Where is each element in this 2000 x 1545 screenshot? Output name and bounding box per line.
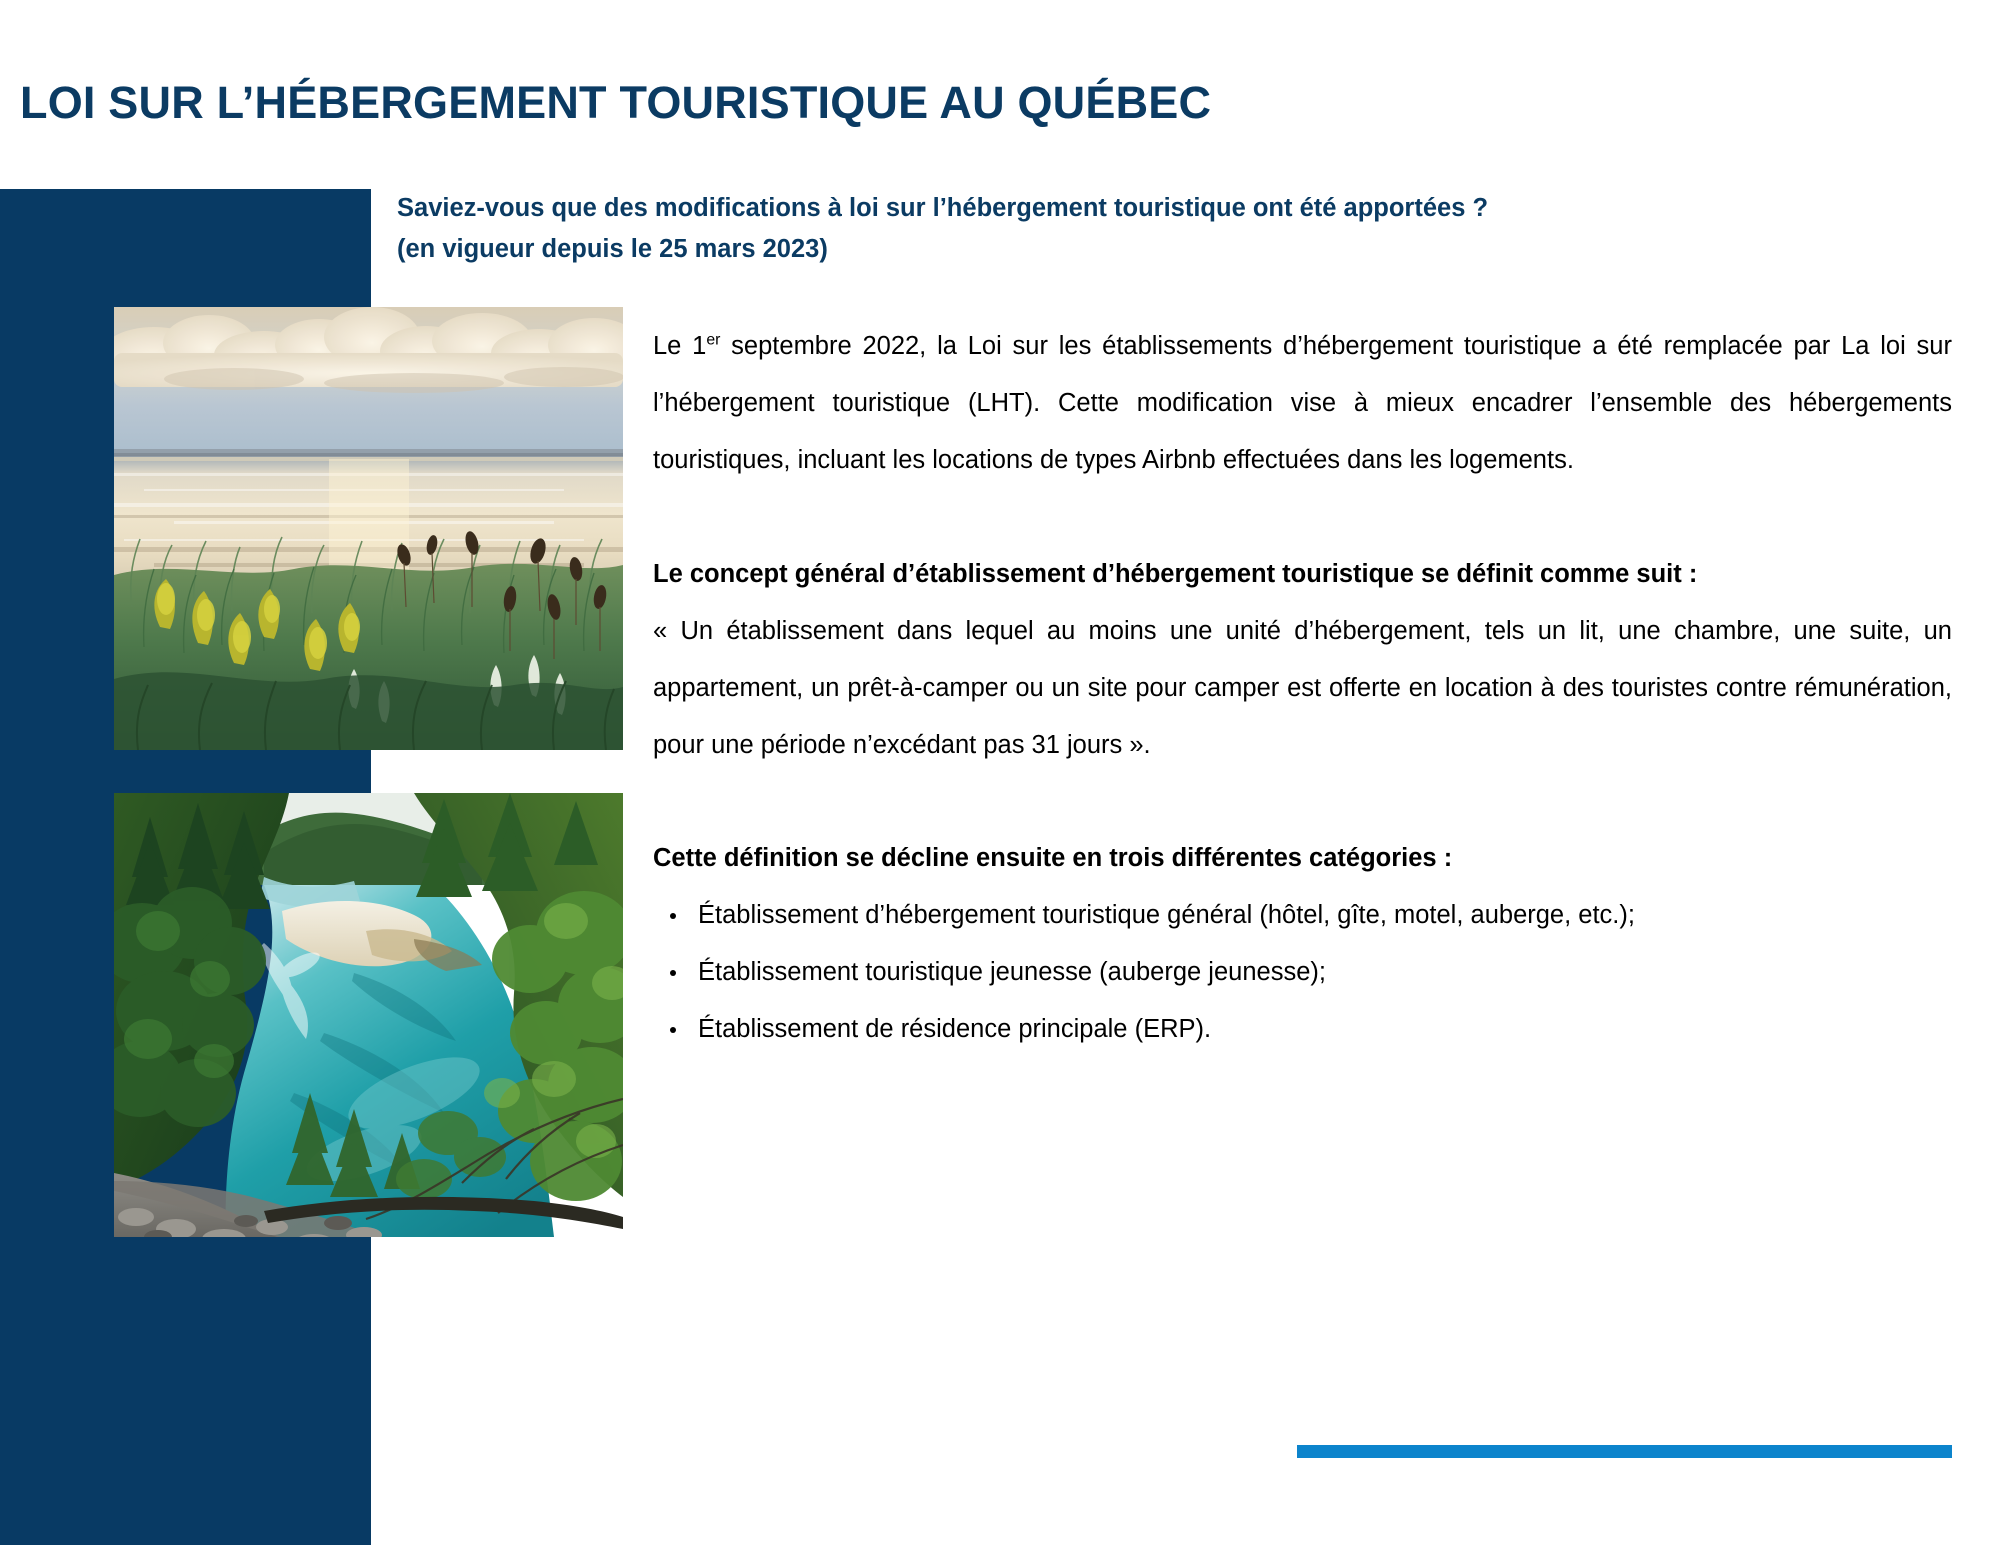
categories-list: Établissement d’hébergement touristique … [653, 887, 1952, 1058]
intro-paragraph: Le 1er septembre 2022, la Loi sur les ét… [653, 318, 1952, 489]
page-title: LOI SUR L’HÉBERGEMENT TOURISTIQUE AU QUÉ… [20, 77, 1211, 129]
turquoise-river-photo [114, 793, 623, 1237]
definition-quote: « Un établissement dans lequel au moins … [653, 603, 1952, 774]
subtitle-line-2: (en vigueur depuis le 25 mars 2023) [397, 229, 1957, 270]
body-content: Le 1er septembre 2022, la Loi sur les ét… [653, 318, 1952, 1058]
categories-heading: Cette définition se décline ensuite en t… [653, 830, 1952, 887]
list-item-label: Établissement d’hébergement touristique … [698, 901, 1635, 929]
intro-prefix: Le 1 [653, 332, 706, 360]
bullet-icon [670, 970, 676, 976]
ordinal-suffix: er [706, 332, 720, 349]
blue-accent-rule [1297, 1445, 1952, 1458]
list-item-label: Établissement de résidence principale (E… [698, 1015, 1211, 1043]
concept-heading: Le concept général d’établissement d’héb… [653, 546, 1952, 603]
list-item: Établissement touristique jeunesse (aube… [653, 944, 1952, 1001]
subtitle-block: Saviez-vous que des modifications à loi … [397, 188, 1957, 270]
list-item: Établissement d’hébergement touristique … [653, 887, 1952, 944]
bullet-icon [670, 1027, 676, 1033]
spacer [653, 489, 1952, 546]
intro-rest: septembre 2022, la Loi sur les établisse… [653, 332, 1952, 474]
shore-sunset-photo [114, 307, 623, 750]
list-item-label: Établissement touristique jeunesse (aube… [698, 958, 1326, 986]
spacer [653, 774, 1952, 830]
subtitle-line-1: Saviez-vous que des modifications à loi … [397, 188, 1957, 229]
list-item: Établissement de résidence principale (E… [653, 1001, 1952, 1058]
bullet-icon [670, 913, 676, 919]
